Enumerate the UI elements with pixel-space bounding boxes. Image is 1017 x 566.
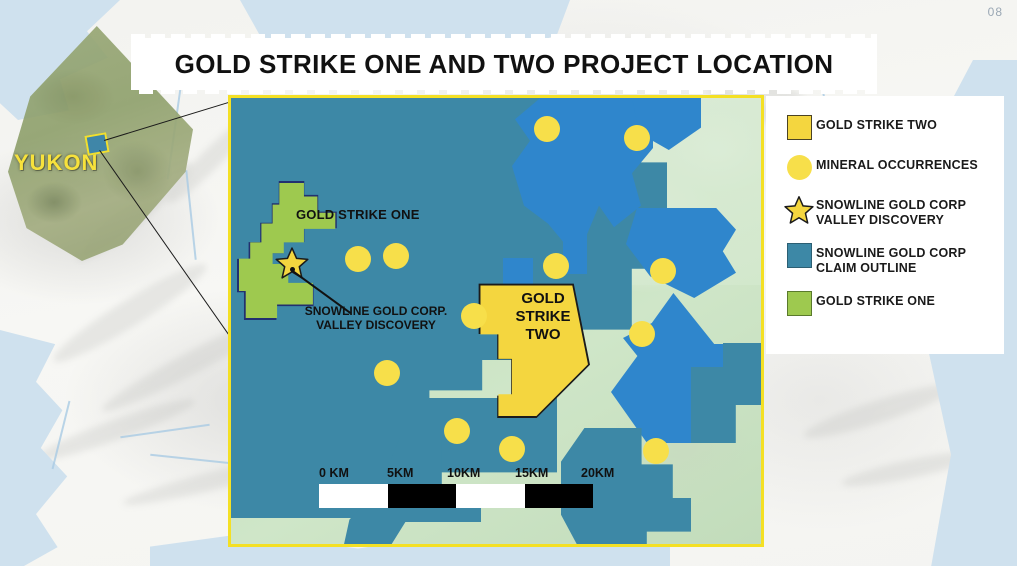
legend-label: GOLD STRIKE TWO bbox=[816, 114, 937, 133]
mineral-occurrence-dot bbox=[629, 321, 655, 347]
scale-tick-4: 20KM bbox=[581, 466, 614, 480]
mineral-occurrence-dot bbox=[643, 438, 669, 464]
gold-strike-two-label: GOLD STRIKE TWO bbox=[503, 290, 583, 344]
scale-tick-0: 0 KM bbox=[319, 466, 349, 480]
mineral-occurrence-dot bbox=[543, 253, 569, 279]
yukon-label: YUKON bbox=[14, 150, 98, 176]
legend-label-line-2: CLAIM OUTLINE bbox=[816, 261, 966, 276]
legend-item-claim-outline: SNOWLINE GOLD CORP CLAIM OUTLINE bbox=[782, 242, 990, 276]
main-map-frame[interactable]: GOLD STRIKE ONE SNOWLINE GOLD CORP. VALL… bbox=[228, 95, 764, 547]
project-locator-box bbox=[84, 132, 109, 156]
scale-tick-3: 15KM bbox=[515, 466, 548, 480]
scale-tick-1: 5KM bbox=[387, 466, 413, 480]
mineral-occurrence-dot bbox=[444, 418, 470, 444]
valley-discovery-star-icon bbox=[275, 246, 309, 279]
page-number: 08 bbox=[988, 5, 1003, 19]
map-scale-bar: 0 KM 5KM 10KM 15KM 20KM bbox=[319, 466, 599, 508]
gold-strike-two-label-line-1: GOLD bbox=[503, 290, 583, 308]
mineral-occurrence-dot bbox=[345, 246, 371, 272]
map-legend: GOLD STRIKE TWO MINERAL OCCURRENCES SNOW… bbox=[766, 96, 1004, 354]
legend-label: MINERAL OCCURRENCES bbox=[816, 154, 978, 173]
scale-segment bbox=[456, 484, 525, 508]
title-banner: GOLD STRIKE ONE AND TWO PROJECT LOCATION bbox=[131, 38, 877, 90]
scale-tick-2: 10KM bbox=[447, 466, 480, 480]
mineral-occurrence-dot bbox=[499, 436, 525, 462]
mineral-occurrence-dot bbox=[624, 125, 650, 151]
legend-label: GOLD STRIKE ONE bbox=[816, 290, 935, 309]
legend-symbol-wrap bbox=[782, 154, 816, 180]
legend-item-valley-discovery: SNOWLINE GOLD CORP VALLEY DISCOVERY bbox=[782, 194, 990, 228]
mineral-occurrence-dot bbox=[461, 303, 487, 329]
legend-symbol-wrap bbox=[782, 242, 816, 268]
legend-item-mineral-occurrences: MINERAL OCCURRENCES bbox=[782, 154, 990, 180]
legend-label: SNOWLINE GOLD CORP CLAIM OUTLINE bbox=[816, 242, 966, 276]
mineral-occurrence-dot bbox=[650, 258, 676, 284]
legend-label-line-1: SNOWLINE GOLD CORP bbox=[816, 246, 966, 261]
mineral-occurrence-dot bbox=[374, 360, 400, 386]
scale-bar-labels: 0 KM 5KM 10KM 15KM 20KM bbox=[319, 466, 599, 484]
scale-segment bbox=[525, 484, 594, 508]
gold-strike-two-label-line-2: STRIKE bbox=[503, 308, 583, 326]
legend-item-gold-strike-one: GOLD STRIKE ONE bbox=[782, 290, 990, 316]
mineral-occurrence-dot bbox=[383, 243, 409, 269]
page-title: GOLD STRIKE ONE AND TWO PROJECT LOCATION bbox=[175, 49, 834, 80]
gold-strike-one-label: GOLD STRIKE ONE bbox=[296, 207, 420, 222]
legend-label-line-2: VALLEY DISCOVERY bbox=[816, 213, 966, 228]
mineral-occurrence-dot-icon bbox=[787, 155, 812, 180]
mineral-occurrence-dot bbox=[534, 116, 560, 142]
scale-bar-segments bbox=[319, 484, 593, 508]
slide-root: YUKON 08 GOLD STRIKE ONE AND TWO PROJECT… bbox=[0, 0, 1017, 566]
legend-symbol-wrap bbox=[782, 114, 816, 140]
legend-item-gold-strike-two: GOLD STRIKE TWO bbox=[782, 114, 990, 140]
gold-strike-one-swatch-icon bbox=[787, 291, 812, 316]
annotation-line-1: SNOWLINE GOLD CORP. bbox=[286, 304, 466, 318]
star-marker-icon bbox=[784, 195, 814, 224]
main-map-canvas: GOLD STRIKE ONE SNOWLINE GOLD CORP. VALL… bbox=[231, 98, 761, 544]
valley-discovery-annotation: SNOWLINE GOLD CORP. VALLEY DISCOVERY bbox=[286, 304, 466, 332]
scale-segment bbox=[319, 484, 388, 508]
gold-strike-two-swatch-icon bbox=[787, 115, 812, 140]
legend-symbol-wrap bbox=[782, 290, 816, 316]
legend-symbol-wrap bbox=[782, 194, 816, 224]
scale-segment bbox=[388, 484, 457, 508]
legend-label: SNOWLINE GOLD CORP VALLEY DISCOVERY bbox=[816, 194, 966, 228]
gold-strike-two-label-line-3: TWO bbox=[503, 326, 583, 344]
annotation-line-2: VALLEY DISCOVERY bbox=[286, 318, 466, 332]
legend-label-line-1: SNOWLINE GOLD CORP bbox=[816, 198, 966, 213]
claim-outline-swatch-icon bbox=[787, 243, 812, 268]
